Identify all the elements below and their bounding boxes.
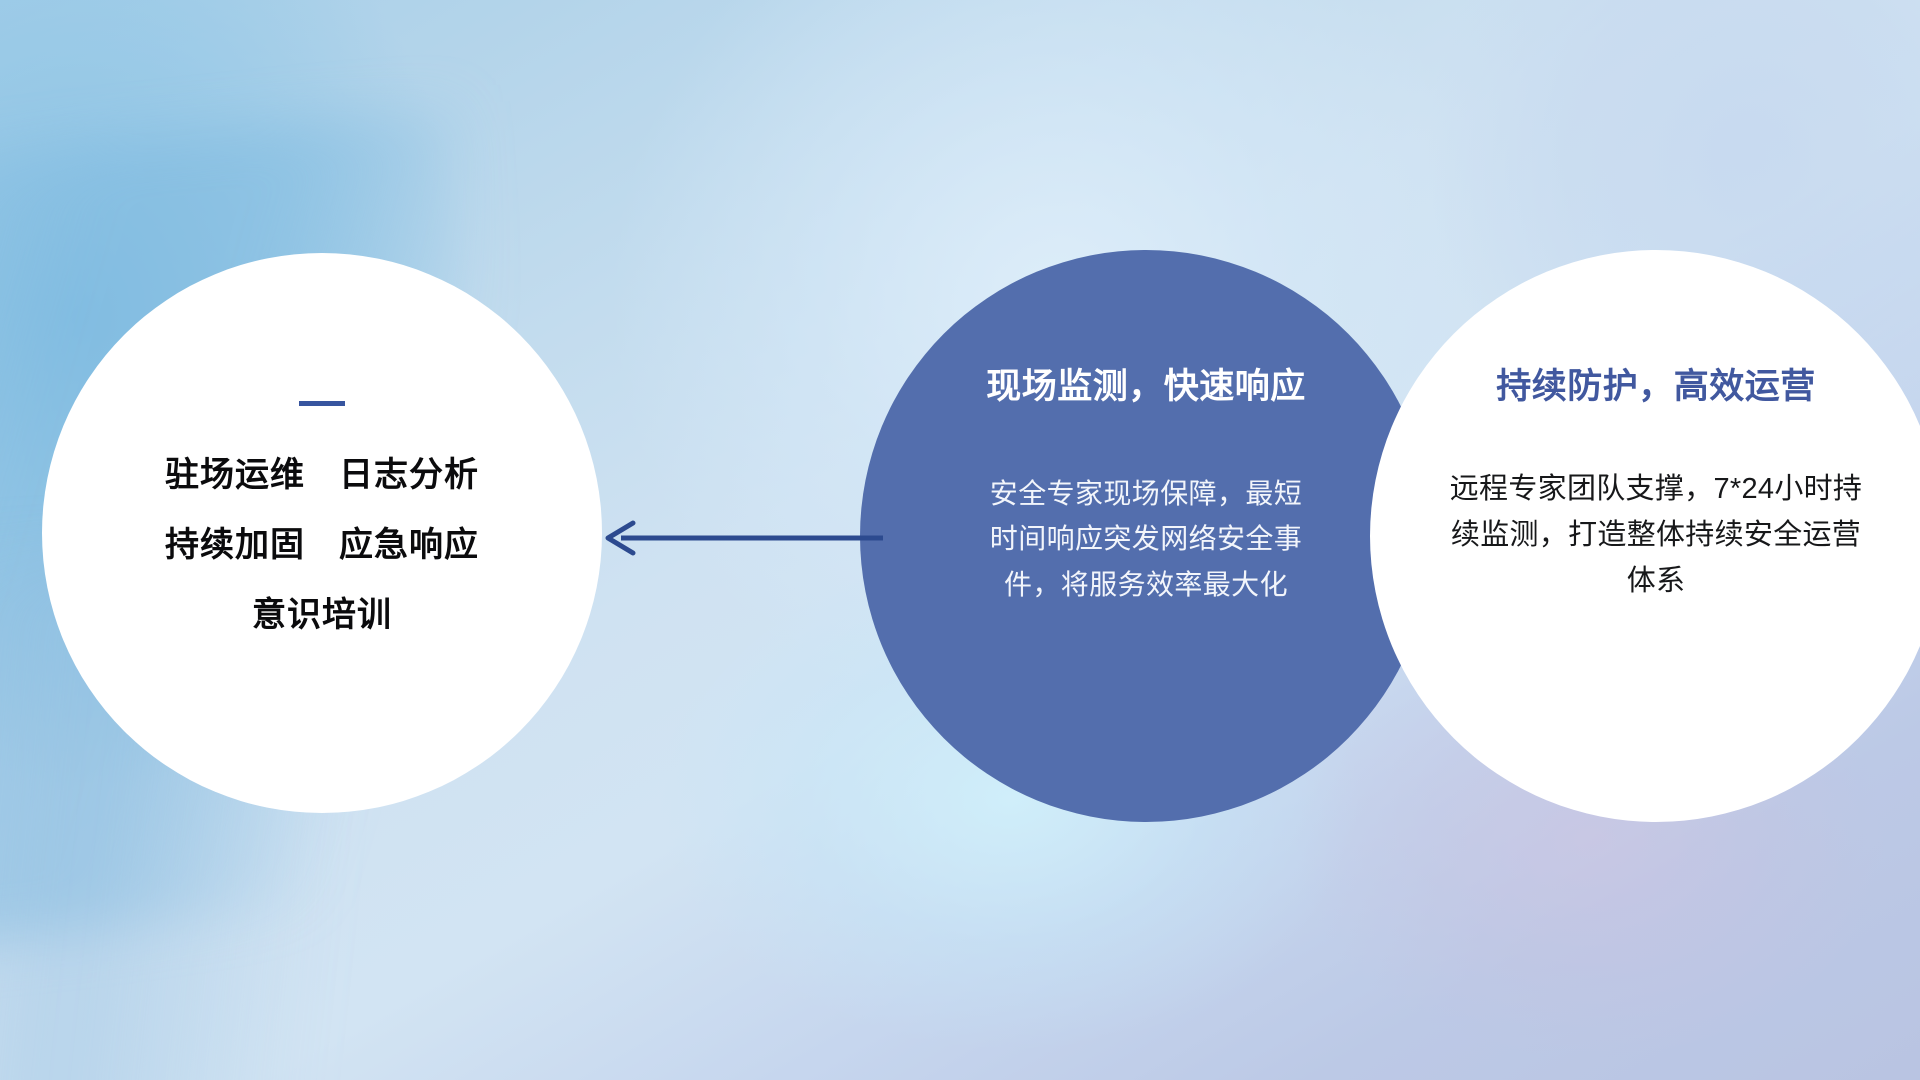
node-title: 现场监测，快速响应 [986, 358, 1306, 409]
node-body: 安全专家现场保障，最短时间响应突发网络安全事件，将服务效率最大化 [981, 471, 1311, 607]
keyword-item: 驻场运维 [165, 458, 305, 492]
keyword-row: 意识培训 [42, 598, 602, 632]
node-title: 持续防护，高效运营 [1496, 358, 1816, 409]
arrow-left-icon [595, 515, 885, 561]
keyword-item: 应急响应 [339, 528, 479, 562]
keyword-list: 驻场运维 日志分析 持续加固 应急响应 意识培训 [42, 458, 602, 632]
keyword-row: 持续加固 应急响应 [42, 528, 602, 562]
keyword-item: 日志分析 [339, 458, 479, 492]
node-body: 远程专家团队支撑，7*24小时持续监测，打造整体持续安全运营体系 [1446, 467, 1866, 604]
slide-canvas: 驻场运维 日志分析 持续加固 应急响应 意识培训 现场监测，快速响应 安全专家现… [0, 0, 1920, 1080]
horizontal-dash-icon [299, 401, 345, 406]
node-middle-onsite[interactable]: 现场监测，快速响应 安全专家现场保障，最短时间响应突发网络安全事件，将服务效率最… [860, 250, 1432, 822]
node-right-continuous[interactable]: 持续防护，高效运营 远程专家团队支撑，7*24小时持续监测，打造整体持续安全运营… [1370, 250, 1920, 822]
keyword-row: 驻场运维 日志分析 [42, 458, 602, 492]
node-left-keywords[interactable]: 驻场运维 日志分析 持续加固 应急响应 意识培训 [42, 253, 602, 813]
keyword-item: 意识培训 [252, 598, 392, 632]
keyword-item: 持续加固 [165, 528, 305, 562]
